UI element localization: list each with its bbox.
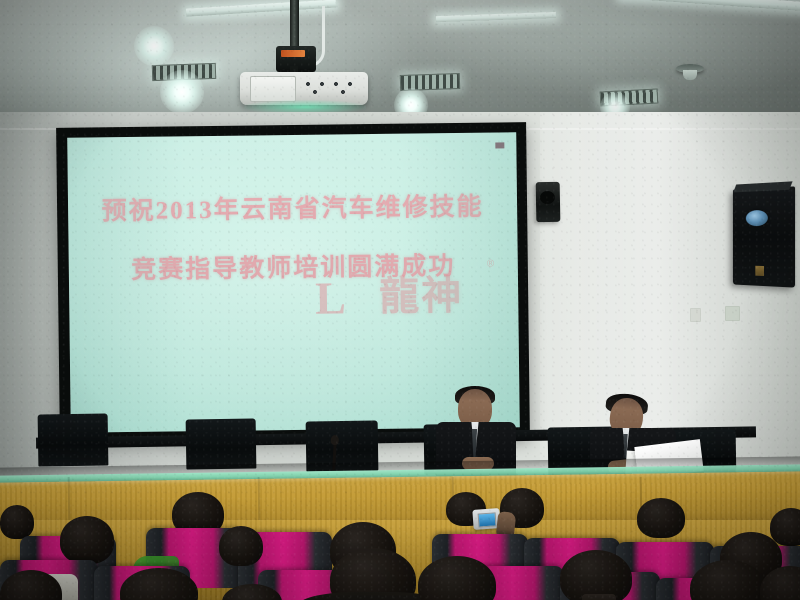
ceiling-projector	[228, 0, 408, 110]
audience-head	[219, 526, 263, 566]
loudspeaker-tweeter-icon	[746, 210, 768, 226]
audience-head	[60, 516, 114, 564]
ceiling-speaker-icon	[676, 64, 704, 73]
projector-label-panel	[250, 76, 296, 102]
wall-outlet-plate[interactable]	[725, 306, 740, 321]
stage-chair	[38, 413, 109, 466]
projection-screen-surface: 预祝2013年云南省汽车维修技能 竞赛指导教师培训圆满成功 L 龍神 ®	[67, 132, 520, 432]
audience-head	[637, 498, 685, 538]
wall-speaker-small-icon	[536, 182, 561, 222]
screen-corner-marker	[495, 142, 504, 148]
wall-mounted-loudspeaker	[733, 186, 795, 287]
ceiling-downlight-glow	[134, 26, 174, 66]
audience-head	[0, 505, 34, 539]
ceiling-downlight-glow	[160, 70, 204, 114]
wall-switch-plate[interactable]	[690, 308, 701, 322]
photograph-auditorium-scene: 预祝2013年云南省汽车维修技能 竞赛指导教师培训圆满成功 L 龍神 ®	[0, 0, 800, 600]
screen-vignette	[67, 132, 520, 432]
loudspeaker-brand-badge	[755, 266, 764, 276]
camera-lcd-screen	[478, 512, 497, 527]
audience-neck	[582, 594, 616, 600]
audience-head-foreground	[560, 550, 632, 600]
projector-control-buttons[interactable]	[302, 80, 358, 96]
stage-chair	[186, 418, 257, 469]
